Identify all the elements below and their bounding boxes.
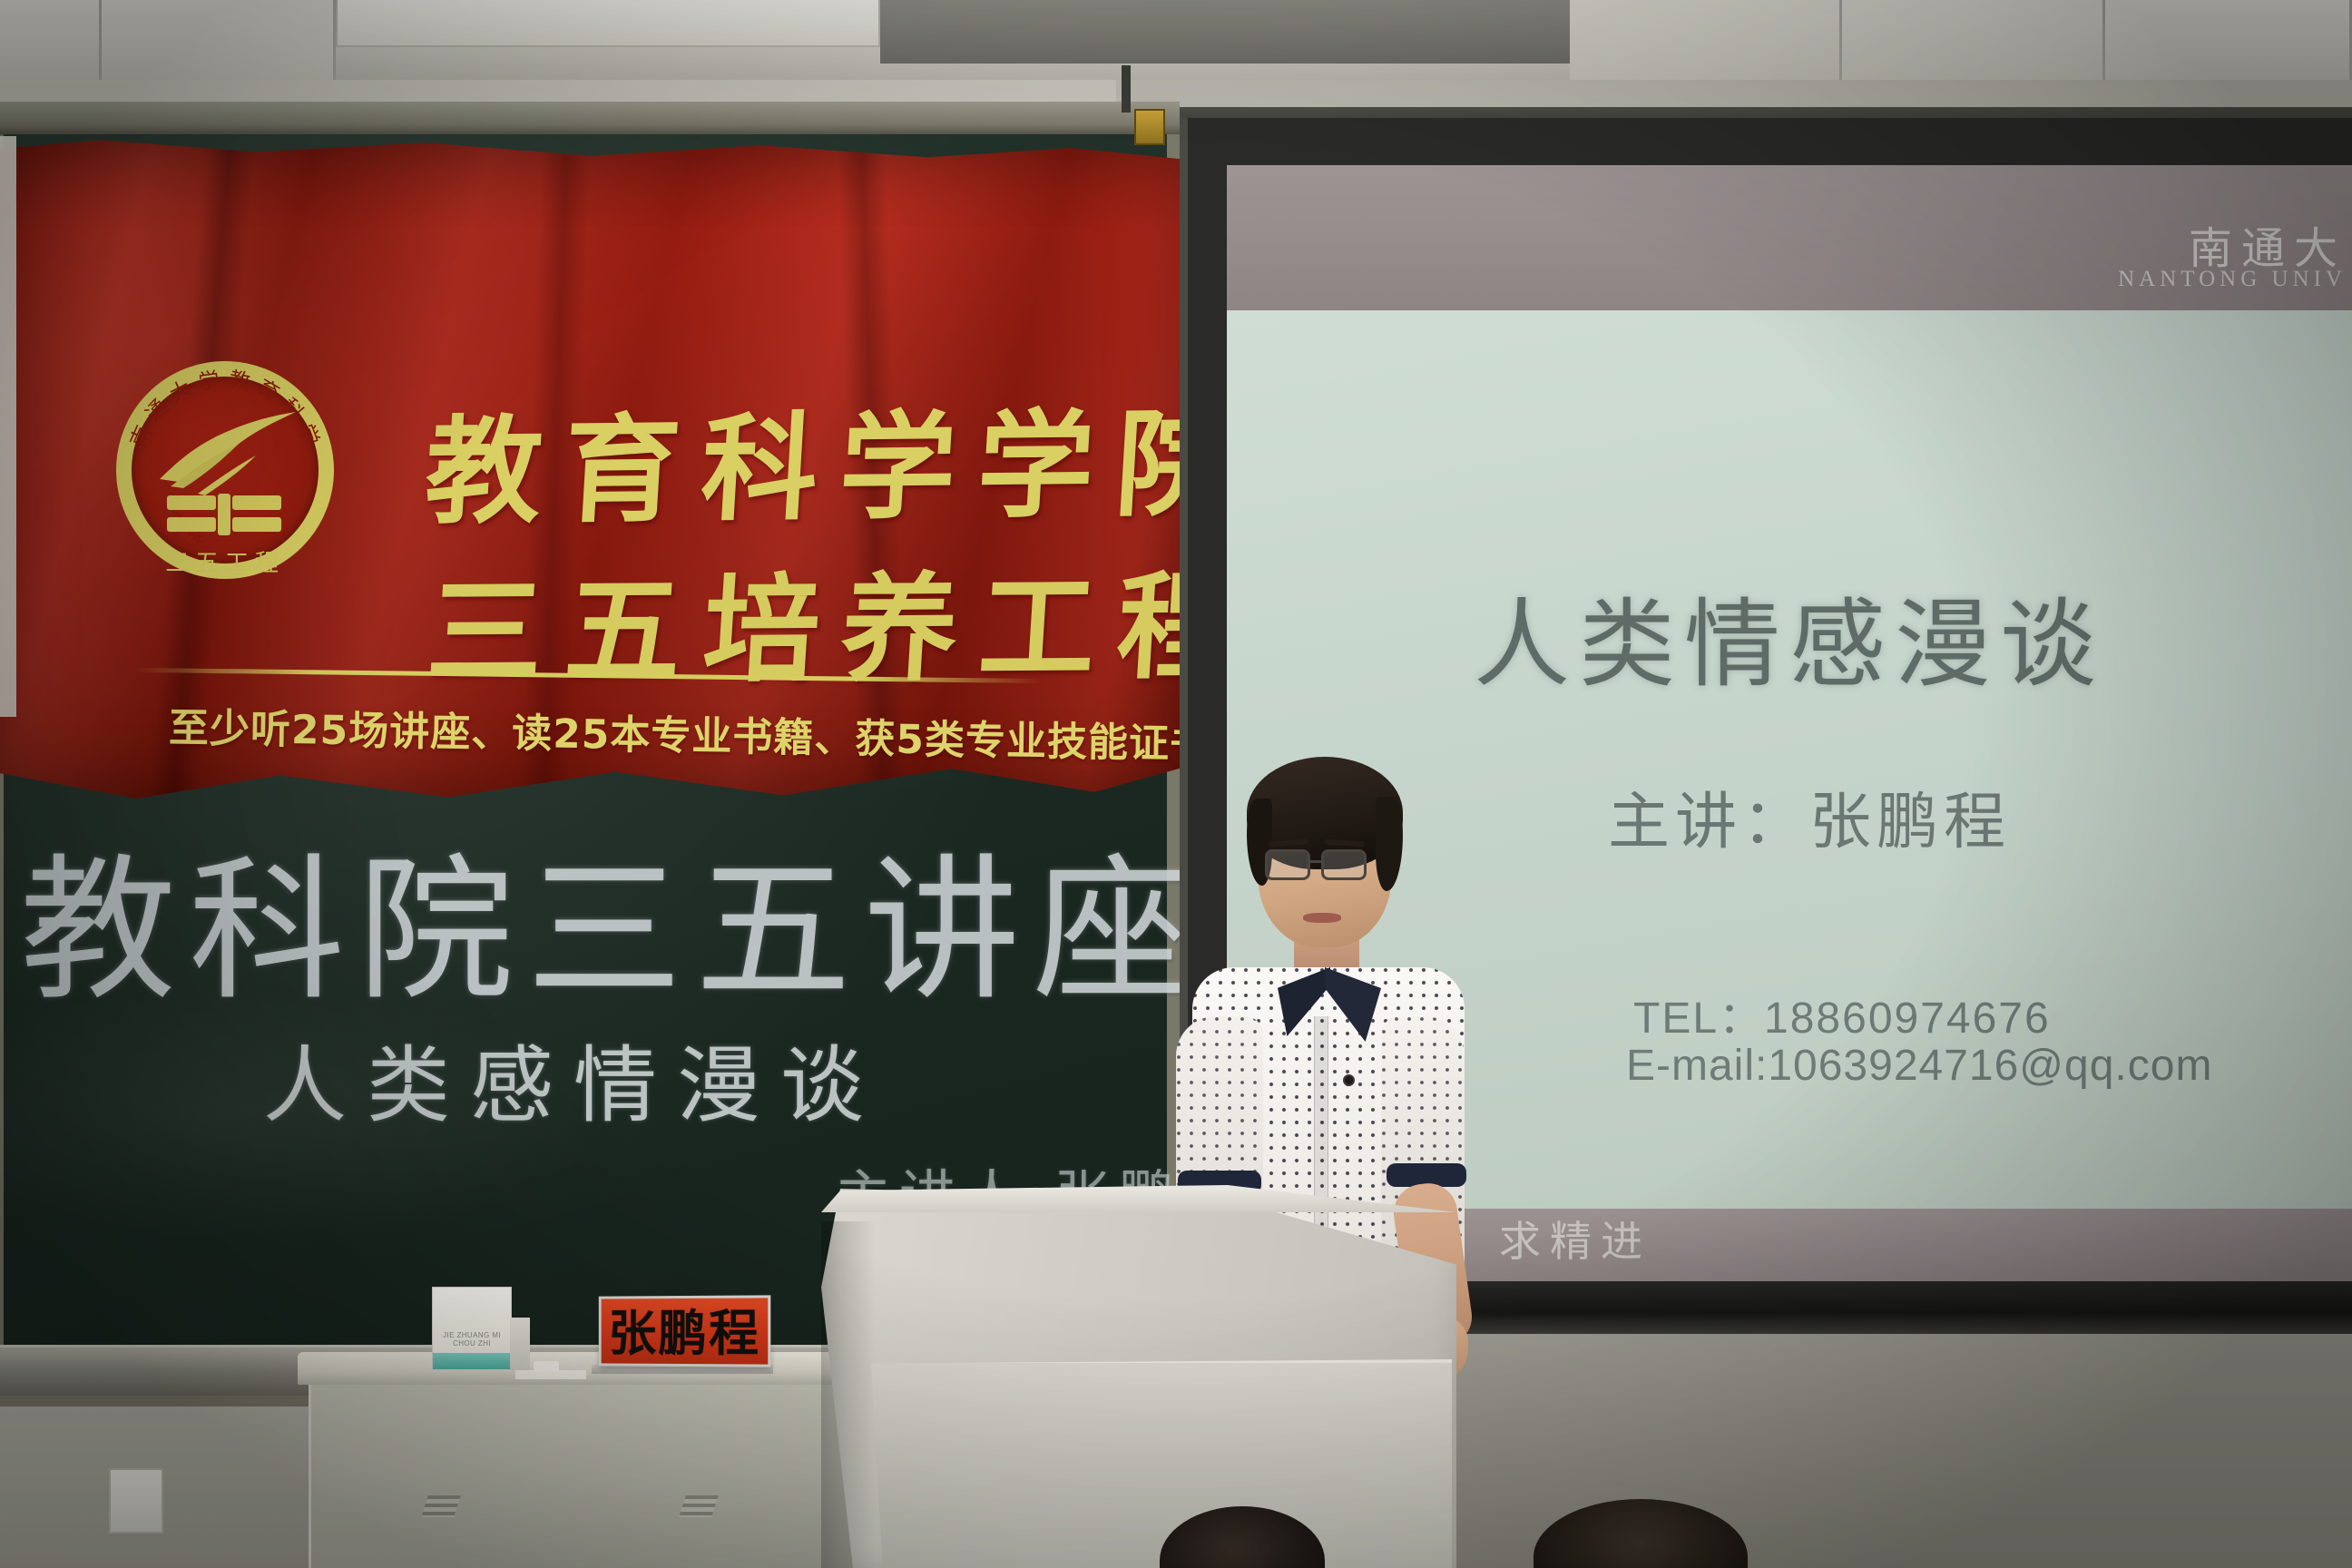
- wall-lower-left: [0, 1397, 327, 1568]
- slide-email: E-mail:1063924716@qq.com: [1626, 1041, 2212, 1091]
- tissue-box: JIE ZHUANG MI CHOU ZHI: [432, 1287, 512, 1370]
- speaker-nameplate: 张鹏程: [599, 1295, 771, 1367]
- screen-latch: [1134, 109, 1165, 145]
- lectern-front-panel: [871, 1359, 1452, 1568]
- projector-screen-hanger: [1122, 65, 1131, 113]
- banner-line-1: 教育科学学院: [421, 369, 1259, 546]
- ceiling-tile: [2105, 0, 2352, 83]
- nameplate-name: 张鹏程: [602, 1306, 769, 1363]
- speaker-mouth: [1303, 913, 1341, 923]
- banner-left-edge: [0, 136, 16, 717]
- ceiling-beam: [880, 0, 1570, 64]
- ceiling-tile: [1842, 0, 2105, 83]
- ceiling: [0, 0, 2352, 83]
- emblem-book-icon: [162, 490, 289, 541]
- slide-tel: TEL：18860974676: [1633, 982, 2051, 1045]
- emblem-bottom-text: 三五工程: [145, 544, 305, 578]
- tissue-box-label: JIE ZHUANG MI CHOU ZHI: [433, 1331, 511, 1347]
- chalk-piece: [534, 1361, 559, 1372]
- slide-title: 人类情感漫谈: [1227, 566, 2352, 706]
- nantong-university-logo-en: NANTONG UNIV: [2118, 267, 2347, 292]
- slide-header-band: 南通大 NANTONG UNIV: [1227, 165, 2352, 310]
- speaker-hair-side-right: [1376, 797, 1403, 891]
- ceiling-light-panel: [336, 0, 880, 47]
- lectern-side-shadow: [821, 1221, 876, 1568]
- slide-speaker: 主讲：张鹏程: [1608, 771, 2011, 861]
- storage-cabinet: [309, 1361, 853, 1568]
- cabinet-top-surface: [298, 1352, 860, 1385]
- ceiling-tile: [1570, 0, 1842, 83]
- tissue-box-side: [510, 1318, 530, 1370]
- lecture-hall-photo: 教科院三五讲座 人类感情漫谈 主讲人 张鹏程 南通大学教育科学 学院: [0, 0, 2352, 1568]
- lapel-microphone-icon: [1343, 1074, 1355, 1086]
- emblem-phoenix-icon: [143, 392, 307, 501]
- tissue-box-band: [433, 1353, 511, 1369]
- blackboard-heading: 教科院三五讲座: [20, 803, 1191, 1030]
- eyeglasses-lens-right: [1321, 849, 1367, 880]
- ceiling-tile: [0, 0, 102, 83]
- blackboard-subtitle: 人类感情漫谈: [263, 1018, 884, 1139]
- blackboard-top-rail: [0, 102, 1180, 134]
- eyeglasses-bridge: [1310, 860, 1323, 863]
- eyeglasses-lens-left: [1265, 849, 1310, 880]
- ceiling-tile: [102, 0, 336, 83]
- wall-outlet: [109, 1468, 163, 1534]
